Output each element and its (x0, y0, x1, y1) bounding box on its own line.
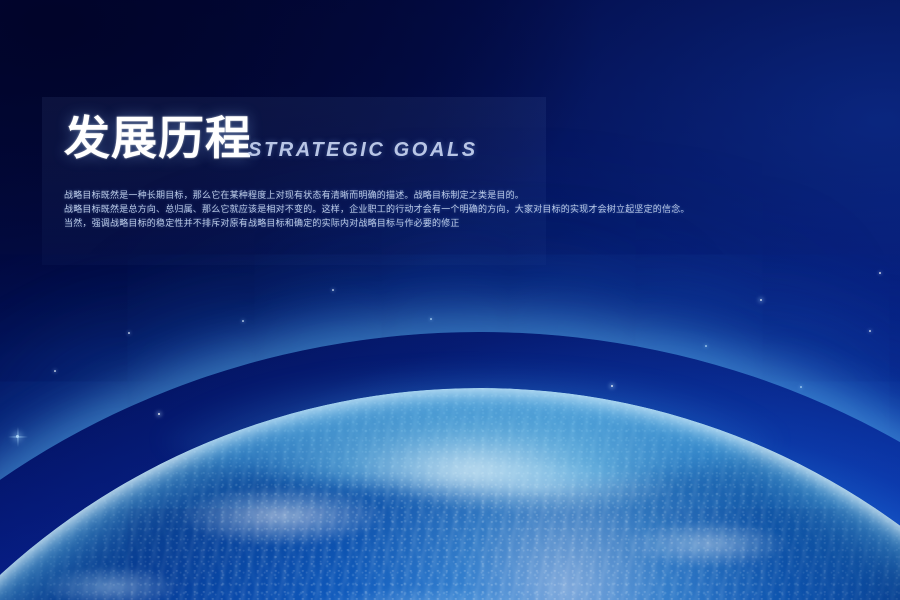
star-icon (54, 370, 56, 372)
star-icon (879, 272, 881, 274)
banner-heading: 发展历程 STRATEGIC GOALS (64, 116, 478, 162)
star-icon (705, 345, 707, 347)
page-subtitle: STRATEGIC GOALS (248, 140, 478, 160)
body-line: 战略目标既然是一种长期目标，那么它在某种程度上对现有状态有清晰而明确的描述。战略… (64, 188, 844, 202)
star-icon (430, 318, 432, 320)
strategic-goals-banner: 发展历程 STRATEGIC GOALS 战略目标既然是一种长期目标，那么它在某… (0, 0, 900, 600)
star-icon (242, 320, 244, 322)
star-icon (800, 386, 802, 388)
star-icon (332, 289, 334, 291)
body-line: 当然，强调战略目标的稳定性并不排斥对原有战略目标和确定的实际内对战略目标与作必要… (64, 216, 844, 230)
body-line: 战略目标既然是总方向、总归属、那么它就应该是相对不变的。这样，企业职工的行动才会… (64, 202, 844, 216)
body-copy: 战略目标既然是一种长期目标，那么它在某种程度上对现有状态有清晰而明确的描述。战略… (64, 188, 844, 230)
page-title: 发展历程 (64, 116, 252, 162)
star-icon (128, 332, 130, 334)
star-icon (869, 330, 871, 332)
